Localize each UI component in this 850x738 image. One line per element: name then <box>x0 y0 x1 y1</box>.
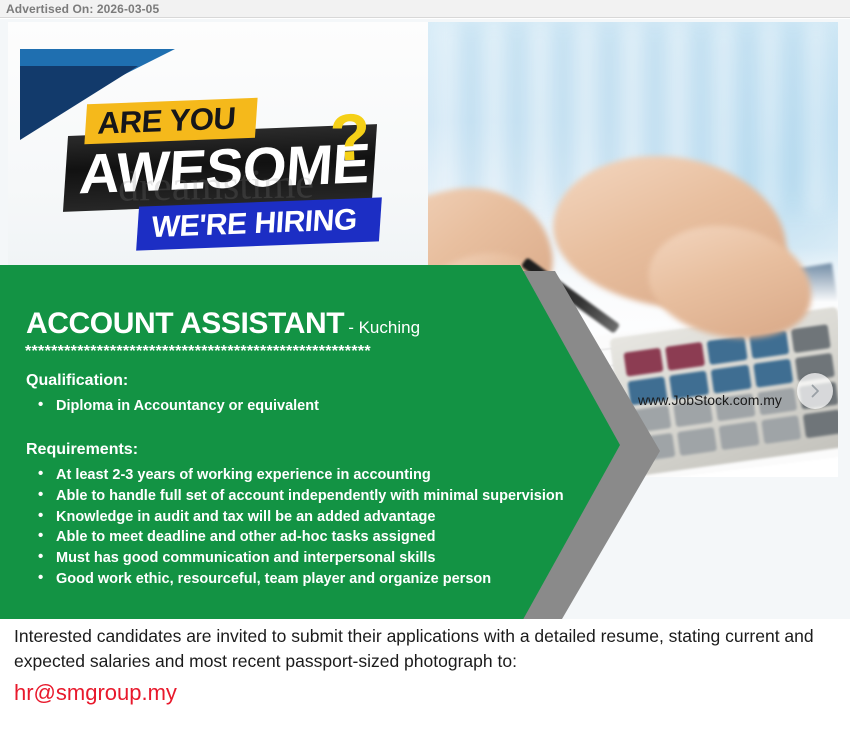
calculator-key <box>707 336 747 365</box>
advertised-on-label: Advertised On: 2026-03-05 <box>6 2 159 16</box>
requirements-list: At least 2-3 years of working experience… <box>0 465 638 590</box>
job-title-row: ACCOUNT ASSISTANT- Kuching <box>26 307 420 341</box>
qualification-list: Diploma in Accountancy or equivalent <box>0 396 518 417</box>
were-hiring-band: WE'RE HIRING <box>136 197 382 250</box>
job-poster: dreamstime AWESOME ARE YOU ? WE'RE HIRIN… <box>0 19 850 619</box>
contact-email[interactable]: hr@smgroup.my <box>14 680 838 706</box>
requirements-heading: Requirements: <box>26 441 138 459</box>
asterisk-divider: ****************************************… <box>25 343 565 361</box>
calculator-key <box>791 324 831 353</box>
list-item: Able to handle full set of account indep… <box>38 486 638 507</box>
calculator-key <box>677 427 717 456</box>
hiring-artwork: dreamstime AWESOME ARE YOU ? WE'RE HIRIN… <box>8 22 428 272</box>
calculator-key <box>711 364 751 393</box>
qualification-heading: Qualification: <box>26 372 128 390</box>
calculator-key <box>623 348 663 377</box>
next-image-button[interactable] <box>797 373 833 409</box>
chevron-right-icon <box>807 383 823 399</box>
instructions-paragraph: Interested candidates are invited to sub… <box>14 624 838 674</box>
job-title: ACCOUNT ASSISTANT <box>26 307 344 340</box>
advertised-on-bar: Advertised On: 2026-03-05 <box>0 0 850 18</box>
list-item: Able to meet deadline and other ad-hoc t… <box>38 527 638 548</box>
calculator-key <box>803 410 838 439</box>
job-details-panel: ACCOUNT ASSISTANT- Kuching *************… <box>0 265 620 619</box>
calculator-key <box>753 359 793 388</box>
job-location: - Kuching <box>348 318 420 337</box>
calculator-key <box>719 421 759 450</box>
are-you-band: ARE YOU <box>84 98 257 144</box>
list-item: Must has good communication and interper… <box>38 548 638 569</box>
site-watermark: www.JobStock.com.my <box>638 392 782 408</box>
application-instructions: Interested candidates are invited to sub… <box>14 624 838 706</box>
question-mark: ? <box>329 103 372 171</box>
calculator-key <box>761 415 801 444</box>
list-item: Knowledge in audit and tax will be an ad… <box>38 507 638 528</box>
list-item: At least 2-3 years of working experience… <box>38 465 638 486</box>
list-item: Diploma in Accountancy or equivalent <box>38 396 518 417</box>
calculator-key <box>665 342 705 371</box>
